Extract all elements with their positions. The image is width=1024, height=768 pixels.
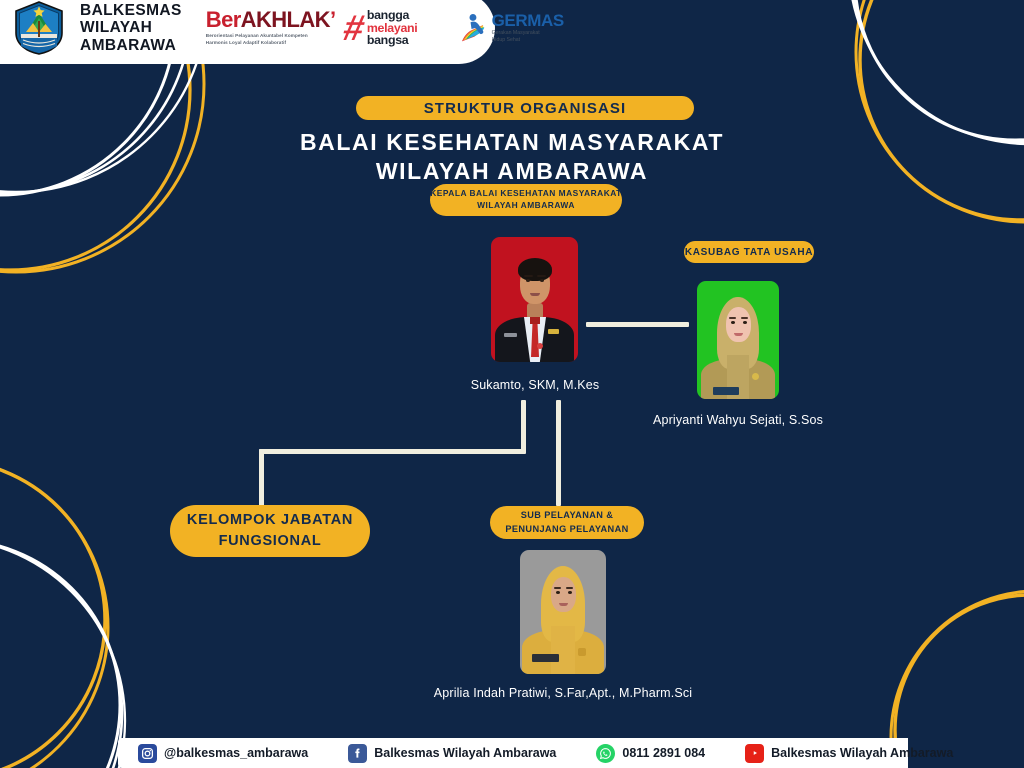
node-role-kepala-line-1: KEPALA BALAI KESEHATAN MASYARAKAT xyxy=(430,188,622,200)
germas-sub-1: Gerakan Masyarakat xyxy=(492,30,564,37)
node-role-kjf-line-1: KELOMPOK JABATAN xyxy=(187,510,353,531)
photo-kasubag xyxy=(697,281,779,399)
node-role-sub-pelayanan: SUB PELAYANAN & PENUNJANG PELAYANAN xyxy=(490,506,644,539)
germas-logo: GERMAS Gerakan Masyarakat Hidup Sehat xyxy=(460,11,564,45)
node-role-sub-line-1: SUB PELAYANAN & xyxy=(521,509,614,522)
social-footer-bar: @balkesmas_ambarawa Balkesmas Wilayah Am… xyxy=(118,738,908,768)
page-title-line-1: BALAI KESEHATAN MASYARAKAT xyxy=(0,128,1024,157)
connector-kepala-to-kasubag xyxy=(586,322,689,327)
caption-kasubag: Apriyanti Wahyu Sejati, S.Sos xyxy=(640,413,836,427)
page-title: BALAI KESEHATAN MASYARAKAT WILAYAH AMBAR… xyxy=(0,128,1024,187)
photo-sub-pelayanan xyxy=(520,550,606,674)
node-role-kepala-line-2: WILAYAH AMBARAWA xyxy=(477,200,575,212)
header-logo-bar: BALKESMAS WILAYAH AMBARAWA BerAKHLAK’ Be… xyxy=(0,0,495,64)
bangga-line-1: bangga xyxy=(367,9,418,22)
footer-item-instagram[interactable]: @balkesmas_ambarawa xyxy=(138,744,308,763)
footer-label-whatsapp: 0811 2891 084 xyxy=(622,746,705,760)
berakhlak-word-b: AKHLAK xyxy=(241,7,330,32)
connector-elbow-horizontal xyxy=(259,449,526,454)
connector-elbow-vertical xyxy=(521,400,526,452)
photo-sub-pelayanan-person xyxy=(520,550,606,674)
central-java-provincial-crest-icon xyxy=(12,0,66,56)
footer-item-facebook[interactable]: Balkesmas Wilayah Ambarawa xyxy=(348,744,556,763)
berakhlak-tagline-1: Berorientasi Pelayanan Akuntabel Kompete… xyxy=(206,33,330,40)
organization-name: BALKESMAS WILAYAH AMBARAWA xyxy=(80,2,182,54)
node-role-kasubag: KASUBAG TATA USAHA xyxy=(684,241,814,263)
bangga-melayani-bangsa-logo: # bangga melayani bangsa xyxy=(344,9,446,47)
germas-sub-2: Hidup Sehat xyxy=(492,37,564,44)
footer-item-youtube[interactable]: Balkesmas Wilayah Ambarawa xyxy=(745,744,953,763)
footer-label-instagram: @balkesmas_ambarawa xyxy=(164,746,308,760)
berakhlak-word-a: Ber xyxy=(206,7,241,32)
berakhlak-tagline-2: Harmonis Loyal Adaptif Kolaboratif xyxy=(206,40,330,47)
struktur-organisasi-chip: STRUKTUR ORGANISASI xyxy=(356,96,694,120)
berakhlak-logo: BerAKHLAK’ Berorientasi Pelayanan Akunta… xyxy=(206,9,330,47)
node-role-kjf-line-2: FUNGSIONAL xyxy=(219,531,322,552)
page-title-line-2: WILAYAH AMBARAWA xyxy=(0,157,1024,186)
photo-kepala xyxy=(491,237,578,362)
decoration-bottom-left-arcs xyxy=(0,455,235,768)
node-role-kepala: KEPALA BALAI KESEHATAN MASYARAKAT WILAYA… xyxy=(430,184,622,216)
bangga-line-3: bangsa xyxy=(367,34,418,47)
instagram-icon[interactable] xyxy=(138,744,157,763)
infographic-canvas: BALKESMAS WILAYAH AMBARAWA BerAKHLAK’ Be… xyxy=(0,0,1024,768)
caption-sub-pelayanan: Aprilia Indah Pratiwi, S.Far,Apt., M.Pha… xyxy=(398,686,728,700)
footer-label-youtube: Balkesmas Wilayah Ambarawa xyxy=(771,746,953,760)
facebook-icon[interactable] xyxy=(348,744,367,763)
decoration-bottom-right-arcs xyxy=(845,545,1024,768)
node-role-sub-line-2: PENUNJANG PELAYANAN xyxy=(505,523,628,536)
hashtag-icon: # xyxy=(341,14,367,43)
footer-label-facebook: Balkesmas Wilayah Ambarawa xyxy=(374,746,556,760)
footer-item-whatsapp[interactable]: 0811 2891 084 xyxy=(596,744,705,763)
germas-title: GERMAS xyxy=(492,12,564,29)
connector-to-kjf xyxy=(259,449,264,507)
photo-kasubag-person xyxy=(697,281,779,399)
photo-kepala-person xyxy=(491,237,578,362)
connector-kepala-drop xyxy=(556,400,561,506)
caption-kepala: Sukamto, SKM, M.Kes xyxy=(440,378,630,392)
youtube-icon[interactable] xyxy=(745,744,764,763)
node-role-kelompok-jabatan-fungsional: KELOMPOK JABATAN FUNGSIONAL xyxy=(170,505,370,557)
germas-figure-icon xyxy=(460,11,489,45)
whatsapp-icon[interactable] xyxy=(596,744,615,763)
